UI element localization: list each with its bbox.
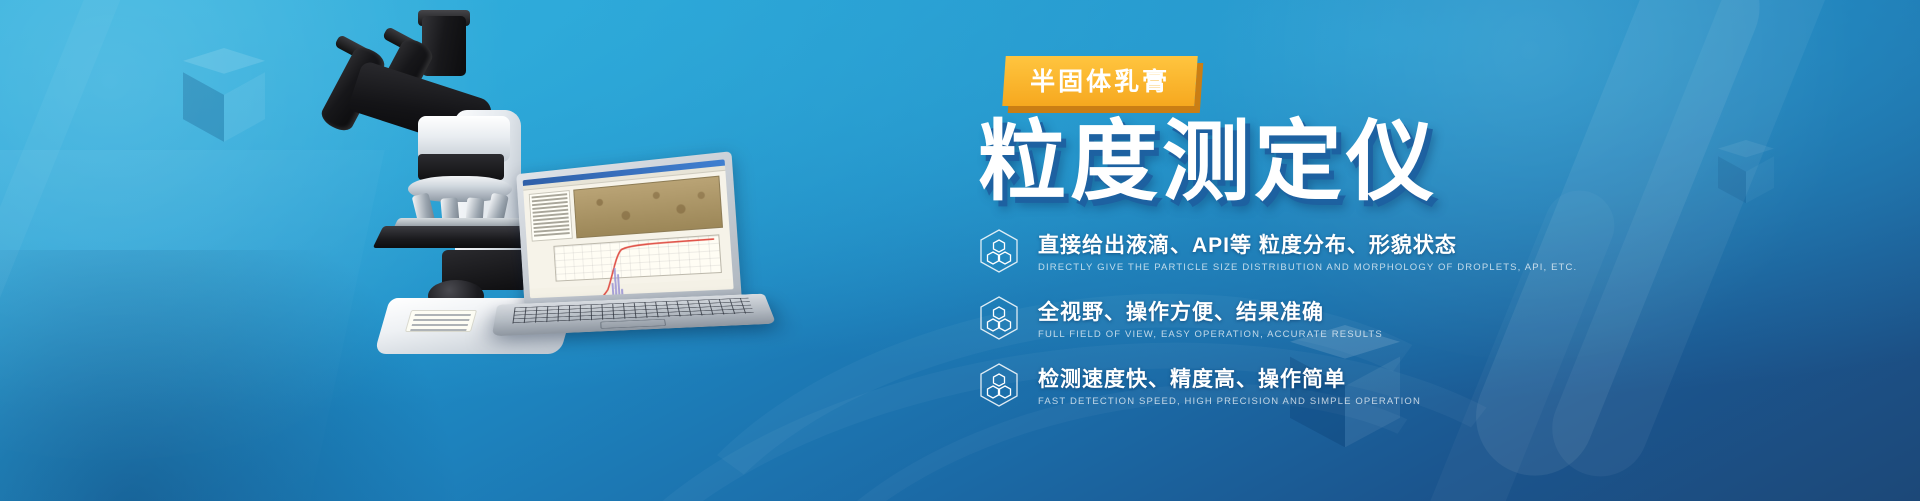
laptop-lid — [516, 151, 742, 309]
isometric-cube-icon-left — [183, 48, 265, 140]
feature-title-cn: 检测速度快、精度高、操作简单 — [1038, 363, 1421, 393]
feature-title-en: DIRECTLY GIVE THE PARTICLE SIZE DISTRIBU… — [1038, 262, 1577, 273]
feature-item: 检测速度快、精度高、操作简单 FAST DETECTION SPEED, HIG… — [978, 362, 1738, 408]
badge-wrapper: 半固体乳膏 — [1004, 56, 1196, 106]
distribution-curve — [554, 235, 723, 298]
feature-title-cn: 直接给出液滴、API等 粒度分布、形貌状态 — [1038, 229, 1577, 259]
feature-item: 全视野、操作方便、结果准确 FULL FIELD OF VIEW, EASY O… — [978, 295, 1738, 341]
feature-title-en: FAST DETECTION SPEED, HIGH PRECISION AND… — [1038, 396, 1421, 407]
feature-text: 全视野、操作方便、结果准确 FULL FIELD OF VIEW, EASY O… — [1038, 296, 1383, 340]
feature-text: 检测速度快、精度高、操作简单 FAST DETECTION SPEED, HIG… — [1038, 363, 1421, 407]
product-photo — [300, 18, 780, 383]
particle-size-distribution-chart — [553, 234, 722, 281]
feature-item: 直接给出液滴、API等 粒度分布、形貌状态 DIRECTLY GIVE THE … — [978, 228, 1738, 274]
microscope-capture-image — [573, 176, 723, 239]
feature-text: 直接给出液滴、API等 粒度分布、形貌状态 DIRECTLY GIVE THE … — [1038, 229, 1577, 273]
hexagon-molecule-icon — [978, 362, 1020, 408]
hexagon-molecule-icon — [978, 228, 1020, 274]
page-title: 粒度测定仪 — [978, 118, 1738, 206]
category-badge-label: 半固体乳膏 — [1030, 62, 1170, 98]
software-parameter-panel — [529, 190, 573, 242]
feature-title-en: FULL FIELD OF VIEW, EASY OPERATION, ACCU… — [1038, 329, 1383, 340]
hexagon-molecule-icon — [978, 295, 1020, 341]
laptop-image — [496, 163, 776, 363]
laptop-screen — [523, 159, 734, 298]
laptop-trackpad — [600, 319, 666, 329]
category-badge: 半固体乳膏 — [1002, 56, 1198, 106]
banner-content: 半固体乳膏 粒度测定仪 直接给出液滴、API等 粒度分布、形貌状态 DIRECT… — [978, 56, 1738, 429]
feature-title-cn: 全视野、操作方便、结果准确 — [1038, 296, 1383, 326]
product-banner: 半固体乳膏 粒度测定仪 直接给出液滴、API等 粒度分布、形貌状态 DIRECT… — [0, 0, 1920, 501]
feature-list: 直接给出液滴、API等 粒度分布、形貌状态 DIRECTLY GIVE THE … — [978, 228, 1738, 408]
